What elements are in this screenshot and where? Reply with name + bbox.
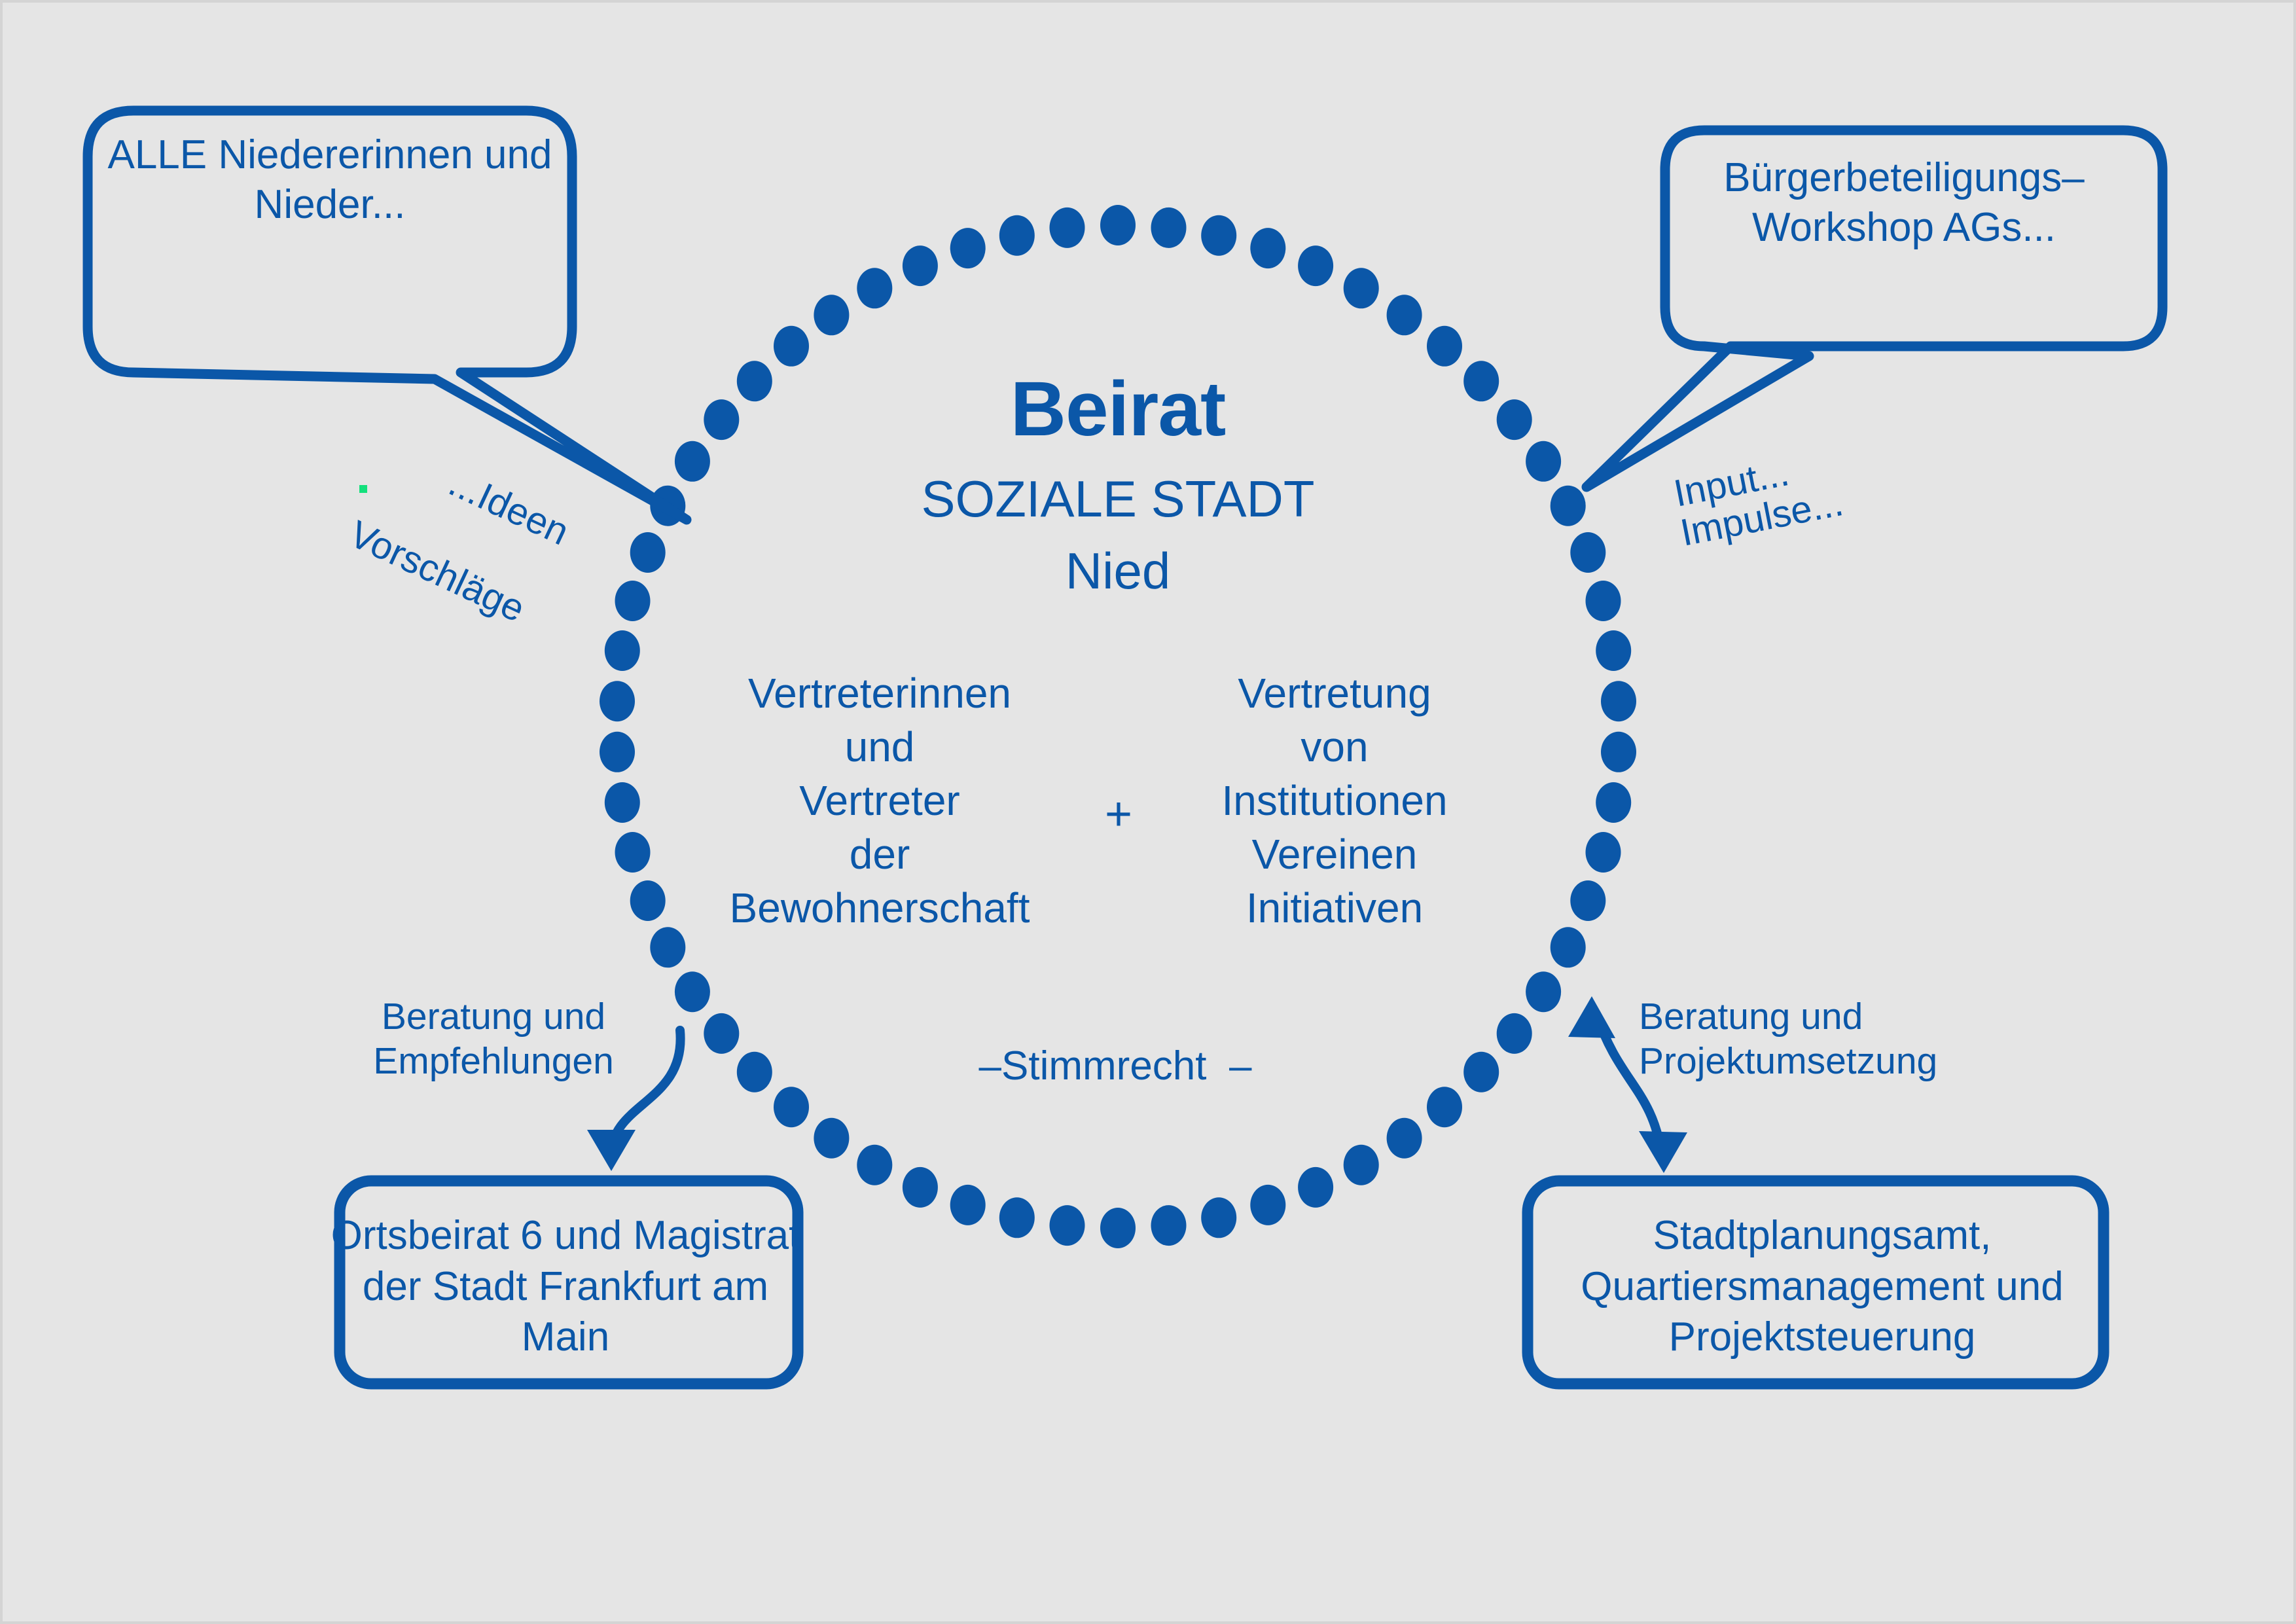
voting-rights-note: –Stimmrecht –	[919, 1043, 1312, 1089]
members-left-column: Vertreterinnen und Vertreter der Bewohne…	[709, 667, 1050, 935]
green-artifact-dot	[359, 485, 367, 493]
arrow-label-right: Beratung und Projektumsetzung	[1639, 994, 1979, 1084]
bubble-top-right-text: Bürgerbeteiligungs– Workshop AGs...	[1665, 153, 2143, 252]
plus-symbol: +	[1076, 788, 1161, 841]
page-title: Beirat	[791, 366, 1445, 452]
box-bottom-left-text: Ortsbeirat 6 und Magistrat der Stadt Fra…	[330, 1210, 801, 1363]
arrow-label-left: Beratung und Empfehlungen	[343, 994, 644, 1084]
subtitle-line-1: SOZIALE STADT	[791, 471, 1445, 528]
members-right-column: Vertretung von Institutionen Vereinen In…	[1181, 667, 1488, 935]
box-bottom-right-text: Stadtplanungsamt, Quartiersmanagement un…	[1528, 1210, 2117, 1363]
diagram-canvas: ALLE Niedererinnen und Nieder... Bürgerb…	[0, 0, 2296, 1624]
subtitle-line-2: Nied	[791, 543, 1445, 600]
bubble-top-left-text: ALLE Niedererinnen und Nieder...	[94, 130, 565, 229]
